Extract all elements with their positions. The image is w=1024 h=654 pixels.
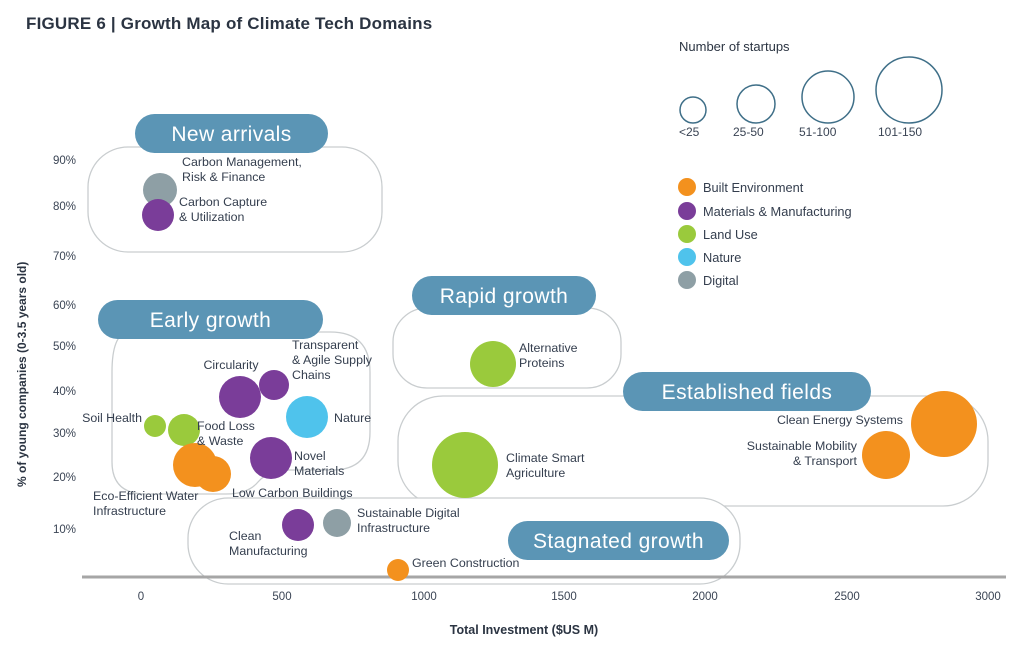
bubble[interactable]	[250, 437, 292, 479]
y-tick-20: 20%	[53, 472, 76, 484]
cluster-pill-label: Stagnated growth	[533, 530, 704, 553]
bubble[interactable]	[259, 370, 289, 400]
legend-swatch-icon	[678, 202, 696, 220]
legend-item-materials-manufacturing[interactable]: Materials & Manufacturing	[678, 202, 852, 220]
bubble-label: Clean Energy Systems	[777, 413, 903, 427]
size-legend-bubble-4	[876, 57, 942, 123]
bubble-label: Low Carbon Buildings	[232, 486, 353, 500]
cluster-pill-label: Rapid growth	[440, 285, 569, 308]
size-legend: Number of startups <25 25-50 51-100 101-…	[679, 39, 942, 139]
x-tick-1500: 1500	[551, 591, 577, 603]
y-tick-40: 40%	[53, 386, 76, 398]
x-tick-2500: 2500	[834, 591, 860, 603]
bubble-label: Circularity	[203, 358, 259, 372]
bubble[interactable]	[195, 456, 231, 492]
bubble[interactable]	[470, 341, 516, 387]
bubble-label: Nature	[334, 411, 371, 425]
legend-swatch-icon	[678, 271, 696, 289]
y-tick-60: 60%	[53, 300, 76, 312]
legend-item-label: Nature	[703, 250, 741, 265]
bubble[interactable]	[282, 509, 314, 541]
cluster-pill-new-arrivals[interactable]: New arrivals	[135, 114, 328, 153]
x-axis-ticks: 0 500 1000 1500 2000 2500 3000	[138, 591, 1001, 603]
size-legend-label-4: 101-150	[878, 125, 922, 139]
cluster-pill-label: Early growth	[150, 309, 272, 332]
cluster-pill-label: Established fields	[662, 381, 833, 404]
y-tick-80: 80%	[53, 201, 76, 213]
bubble[interactable]	[387, 559, 409, 581]
bubble[interactable]	[286, 396, 328, 438]
y-tick-90: 90%	[53, 155, 76, 167]
size-legend-title: Number of startups	[679, 39, 790, 54]
legend-item-nature[interactable]: Nature	[678, 248, 741, 266]
x-tick-1000: 1000	[411, 591, 437, 603]
cluster-pill-label: New arrivals	[171, 123, 291, 146]
y-axis-ticks: 90% 80% 70% 60% 50% 40% 30% 20% 10%	[53, 155, 76, 536]
size-legend-label-1: <25	[679, 125, 700, 139]
legend-item-label: Digital	[703, 273, 739, 288]
legend-item-label: Land Use	[703, 227, 758, 242]
cluster-pill-rapid-growth[interactable]: Rapid growth	[412, 276, 596, 315]
size-legend-bubble-2	[737, 85, 775, 123]
cluster-pill-established-fields[interactable]: Established fields	[623, 372, 871, 411]
category-legend: Built Environment Materials & Manufactur…	[678, 178, 852, 289]
legend-item-land-use[interactable]: Land Use	[678, 225, 758, 243]
bubble[interactable]	[862, 431, 910, 479]
size-legend-bubble-1	[680, 97, 706, 123]
bubble-label: Soil Health	[82, 411, 142, 425]
y-tick-30: 30%	[53, 428, 76, 440]
legend-swatch-icon	[678, 178, 696, 196]
size-legend-label-2: 25-50	[733, 125, 764, 139]
bubble[interactable]	[432, 432, 498, 498]
x-axis-title: Total Investment ($US M)	[450, 623, 598, 637]
cluster-pill-early-growth[interactable]: Early growth	[98, 300, 323, 339]
bubble[interactable]	[144, 415, 166, 437]
x-tick-500: 500	[272, 591, 291, 603]
bubble[interactable]	[168, 414, 200, 446]
legend-item-digital[interactable]: Digital	[678, 271, 739, 289]
y-tick-50: 50%	[53, 341, 76, 353]
x-tick-2000: 2000	[692, 591, 718, 603]
y-tick-70: 70%	[53, 251, 76, 263]
y-axis-title: % of young companies (0-3.5 years old)	[15, 262, 29, 487]
bubble[interactable]	[911, 391, 977, 457]
x-tick-0: 0	[138, 591, 144, 603]
y-tick-10: 10%	[53, 524, 76, 536]
bubble[interactable]	[142, 199, 174, 231]
legend-item-built-environment[interactable]: Built Environment	[678, 178, 804, 196]
legend-swatch-icon	[678, 225, 696, 243]
bubble-label: Green Construction	[412, 556, 520, 570]
growth-map-chart: 90% 80% 70% 60% 50% 40% 30% 20% 10% % of…	[0, 0, 1024, 654]
bubble[interactable]	[219, 376, 261, 418]
legend-item-label: Materials & Manufacturing	[703, 204, 852, 219]
x-tick-3000: 3000	[975, 591, 1001, 603]
size-legend-label-3: 51-100	[799, 125, 837, 139]
legend-swatch-icon	[678, 248, 696, 266]
legend-item-label: Built Environment	[703, 180, 804, 195]
cluster-pill-stagnated-growth[interactable]: Stagnated growth	[508, 521, 729, 560]
bubble-label: Eco-Efficient WaterInfrastructure	[93, 489, 198, 518]
bubble[interactable]	[323, 509, 351, 537]
size-legend-bubble-3	[802, 71, 854, 123]
